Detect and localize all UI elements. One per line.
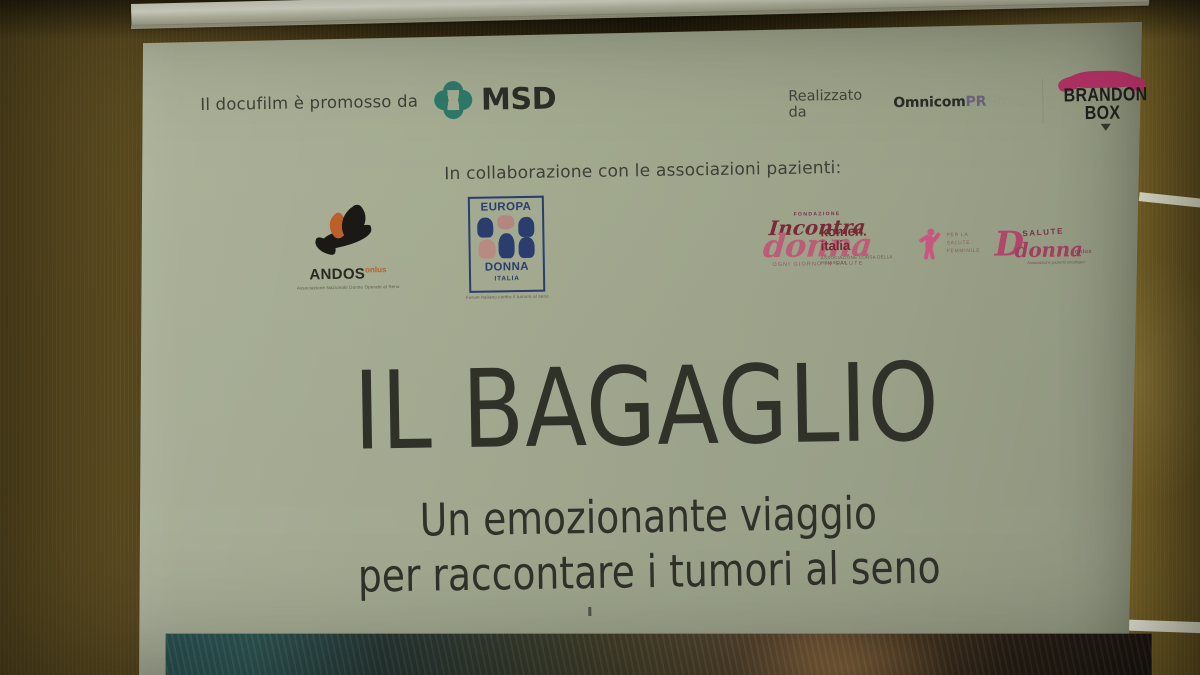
- msd-logo: MSD: [434, 79, 557, 119]
- logo-komen-italia: komen. italia ASSOCIAZIONE CORSA DELLA R…: [820, 223, 991, 274]
- brandon-triangle-icon: [1101, 124, 1111, 131]
- europa-donna-frame: EUROPA DONNA ITALIA: [468, 196, 545, 293]
- italia-word: ITALIA: [494, 275, 519, 282]
- andos-name: ANDOS: [309, 265, 365, 283]
- produced-by-block: Realizzato da OmnicomPRGroup BRANDON BOX: [788, 68, 1144, 136]
- omnicom-word: Omnicom: [893, 94, 966, 111]
- banner-content: Il docufilm è promosso da MSD Realizzato…: [139, 6, 1152, 675]
- produced-by-label: Realizzato da: [788, 87, 879, 120]
- europa-word: EUROPA: [480, 201, 531, 214]
- puzzle-figures-icon: [475, 215, 538, 260]
- box-word: BOX: [1064, 102, 1142, 125]
- komen-tagline-line1: PER LA SALUTE: [946, 230, 990, 247]
- poster-photo-strip: [166, 634, 1152, 675]
- screenshot-frame: Il docufilm è promosso da MSD Realizzato…: [0, 0, 1200, 675]
- komen-lockup: komen. italia ASSOCIAZIONE CORSA DELLA R…: [820, 223, 991, 265]
- logo-salute-donna: D SALUTE donna onlus Associazione pazien…: [988, 227, 1109, 275]
- omnicom-group-word: Group: [986, 93, 1028, 110]
- andos-micro-text: Associazione Nazionale Donne Operate al …: [293, 284, 403, 292]
- collaboration-label: In collaborazione con le associazioni pa…: [141, 153, 1144, 189]
- komen-tagline: PER LA SALUTE FEMMINILE: [946, 230, 990, 255]
- omnicom-pr-word: PR: [965, 94, 986, 110]
- andos-suffix: onlus: [365, 265, 386, 274]
- promoted-by-block: Il docufilm è promosso da MSD: [200, 79, 556, 123]
- poster-subtitle: Un emozionante viaggio per raccontare i …: [182, 483, 1116, 607]
- brandon-box-logo: BRANDON BOX: [1056, 68, 1143, 131]
- komen-word: komen.: [820, 224, 912, 239]
- logo-europa-donna: EUROPA DONNA ITALIA Forum Italiano contr…: [454, 195, 560, 305]
- credit-divider: [1042, 79, 1044, 123]
- running-woman-ribbon-icon: [919, 228, 940, 258]
- logo-andos: ANDOSonlus Associazione Nazionale Donne …: [292, 210, 403, 298]
- omnicom-logo: OmnicomPRGroup: [893, 93, 1028, 111]
- association-logo-row: ANDOSonlus Associazione Nazionale Donne …: [142, 192, 1147, 318]
- salute-donna-micro-text: Associazione pazienti oncologici: [1003, 259, 1109, 267]
- credit-row: Il docufilm è promosso da MSD Realizzato…: [140, 56, 1144, 142]
- photo-hair-texture: [166, 634, 1152, 675]
- banner-pin-mark: [588, 607, 591, 616]
- promoted-by-label: Il docufilm è promosso da: [200, 91, 418, 113]
- komen-tagline-line2: FEMMINILE: [947, 246, 991, 255]
- andos-wordmark: ANDOSonlus: [293, 265, 403, 284]
- komen-wordmark: komen. italia ASSOCIAZIONE CORSA DELLA R…: [820, 224, 912, 265]
- donna-word: DONNA: [485, 261, 529, 274]
- photo-highlight: [737, 634, 954, 675]
- europa-donna-micro-text: Forum Italiano contro il tumore al seno: [455, 293, 559, 301]
- salute-word: SALUTE: [1022, 226, 1064, 238]
- salute-donna-suffix: onlus: [1075, 249, 1092, 255]
- poster-title: IL BAGAGLIO: [179, 347, 1113, 470]
- msd-clover-icon: [434, 81, 473, 120]
- msd-wordmark: MSD: [481, 81, 557, 117]
- rollup-banner: Il docufilm è promosso da MSD Realizzato…: [0, 0, 1200, 675]
- swallow-bird-icon: [314, 210, 381, 265]
- komen-micro-text: ASSOCIAZIONE CORSA DELLA RINASCITA: [821, 253, 913, 264]
- italia-word-komen: italia: [820, 238, 912, 253]
